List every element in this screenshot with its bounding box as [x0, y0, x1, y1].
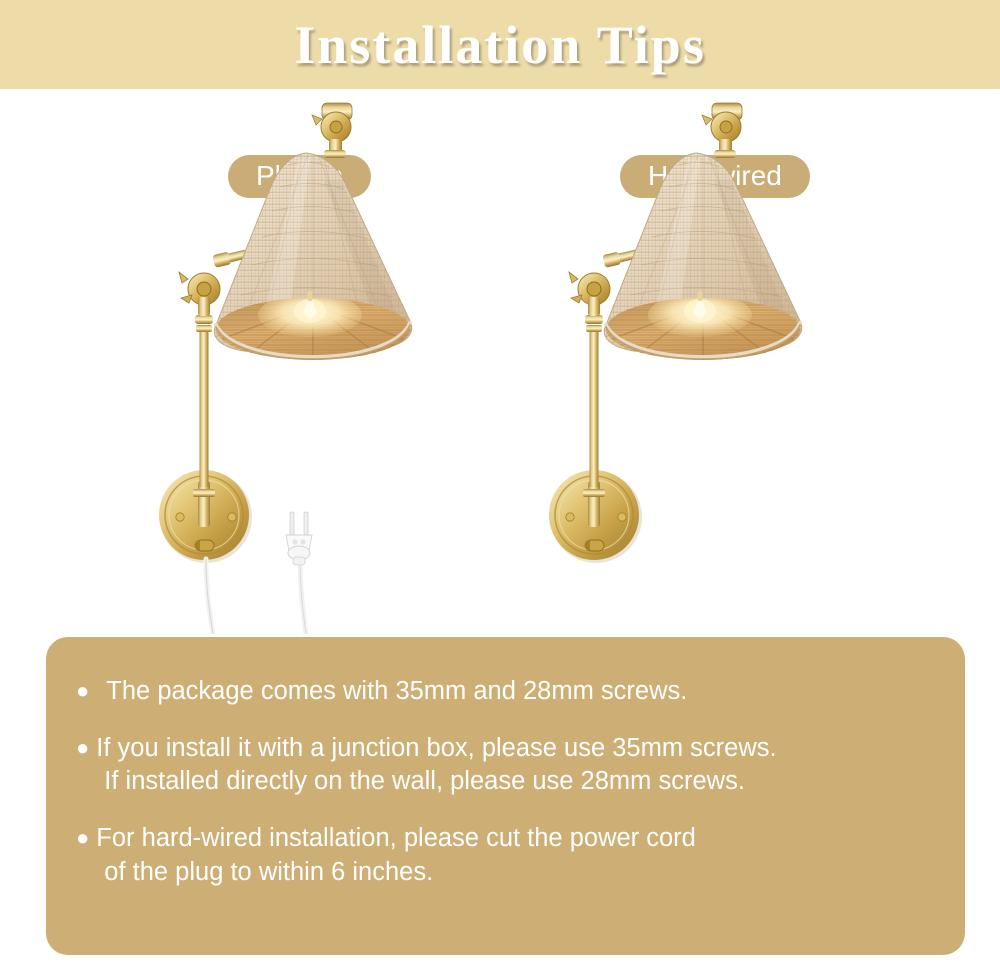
swing-arm-elbow-joint: [569, 272, 610, 309]
bullet-icon: ●: [76, 822, 89, 889]
shade-mount-joint: [312, 103, 352, 158]
bullet-icon: ●: [76, 675, 89, 709]
tip-line: If you install it with a junction box, p…: [96, 732, 935, 766]
tip-text: For hard-wired installation, please cut …: [96, 822, 935, 889]
tip-line: For hard-wired installation, please cut …: [96, 822, 935, 856]
lamp-image-plug-in: [110, 89, 530, 634]
power-cord: [206, 559, 213, 634]
tip-item: ● If you install it with a junction box,…: [76, 732, 935, 799]
tip-line: The package comes with 35mm and 28mm scr…: [106, 675, 935, 709]
bullet-icon: ●: [76, 732, 89, 799]
installation-tips-panel: ● The package comes with 35mm and 28mm s…: [46, 637, 965, 955]
power-plug: [286, 512, 312, 634]
shade-mount-joint: [702, 103, 742, 158]
tip-line: of the plug to within 6 inches.: [96, 856, 935, 890]
tip-line: If installed directly on the wall, pleas…: [96, 765, 935, 799]
page-title: Installation Tips: [294, 14, 706, 76]
lamp-vertical-stem: [195, 303, 213, 487]
tip-item: ● The package comes with 35mm and 28mm s…: [76, 675, 935, 709]
product-showcase: Plug-in Handwired: [0, 89, 1000, 634]
tip-text: The package comes with 35mm and 28mm scr…: [106, 675, 935, 709]
lamp-image-handwired: [500, 89, 920, 634]
header-banner: Installation Tips: [0, 0, 1000, 89]
lamp-vertical-stem: [585, 303, 603, 487]
tip-item: ● For hard-wired installation, please cu…: [76, 822, 935, 889]
tip-text: If you install it with a junction box, p…: [96, 732, 935, 799]
swing-arm-elbow-joint: [179, 272, 220, 309]
